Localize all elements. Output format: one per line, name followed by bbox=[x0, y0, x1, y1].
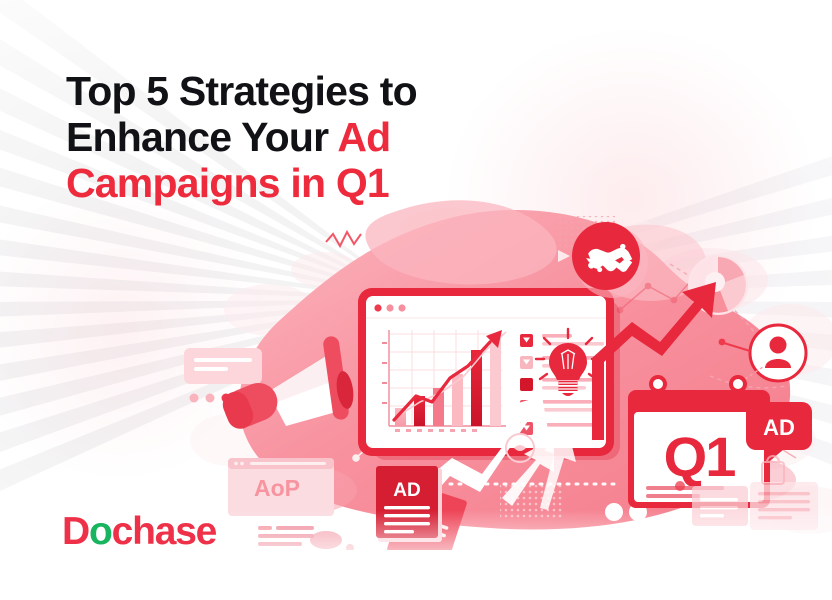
dochase-logo[interactable]: Dochase bbox=[62, 512, 216, 551]
hero-illustration: AoP AD bbox=[150, 190, 832, 550]
headline-line-1: Top 5 Strategies to bbox=[66, 68, 417, 114]
page-title: Top 5 Strategies to Enhance Your Ad Camp… bbox=[66, 69, 417, 207]
headline-line-2: Enhance Your bbox=[66, 114, 337, 160]
deco-zigzag bbox=[326, 232, 361, 246]
headline-accent-ad: Ad bbox=[337, 114, 390, 160]
calendar-label: Q1 bbox=[664, 425, 736, 488]
ad-card-label: AD bbox=[393, 480, 420, 501]
window-dots bbox=[374, 304, 405, 311]
aop-lines bbox=[258, 526, 314, 546]
logo-part-green-o: o bbox=[89, 510, 112, 553]
aop-label: AoP bbox=[254, 475, 300, 501]
logo-part-1: D bbox=[62, 510, 89, 553]
banner-canvas: AoP AD bbox=[0, 0, 832, 600]
headline-line-3: Campaigns in Q1 bbox=[66, 160, 389, 206]
ad-bubble-label: AD bbox=[763, 415, 795, 440]
logo-part-3: chase bbox=[112, 510, 217, 553]
